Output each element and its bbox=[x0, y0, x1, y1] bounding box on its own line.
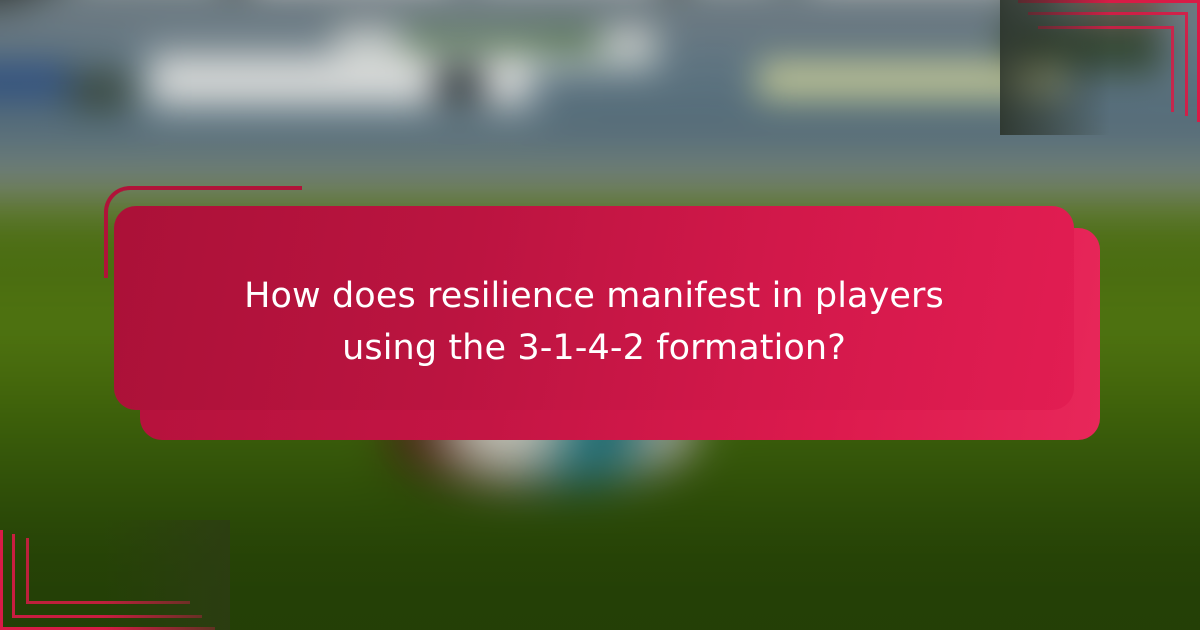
bracket-line bbox=[26, 538, 190, 604]
question-text: How does resilience manifest in players … bbox=[199, 271, 989, 375]
bracket-line bbox=[1038, 26, 1174, 112]
corner-decoration-bottom-left bbox=[0, 520, 230, 630]
question-card-banner: How does resilience manifest in players … bbox=[0, 0, 1200, 630]
corner-decoration-top-right bbox=[1000, 0, 1200, 135]
question-card-text-area: How does resilience manifest in players … bbox=[114, 206, 1074, 440]
